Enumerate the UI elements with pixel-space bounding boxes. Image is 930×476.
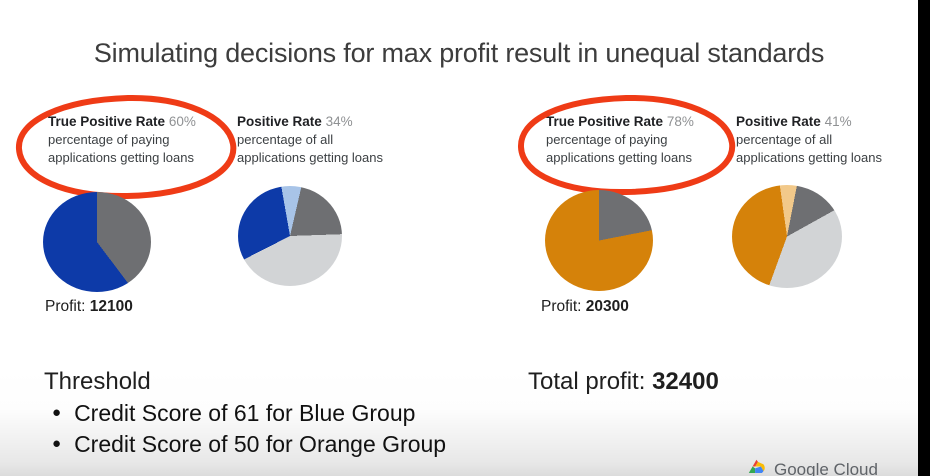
metric-label: Positive Rate	[736, 114, 821, 129]
list-item: ● Credit Score of 61 for Blue Group	[52, 400, 522, 427]
presentation-slide: Simulating decisions for max profit resu…	[0, 0, 918, 476]
metric-description-line2: applications getting loans	[48, 149, 248, 167]
total-profit: Total profit: 32400	[528, 368, 719, 396]
metric-label: True Positive Rate	[48, 114, 165, 129]
page-title: Simulating decisions for max profit resu…	[0, 38, 918, 69]
metric-description-line1: percentage of all	[736, 131, 918, 149]
metric-description-line2: applications getting loans	[546, 149, 746, 167]
metric-true-positive-rate-blue: True Positive Rate 60% percentage of pay…	[48, 113, 248, 166]
profit-label: Profit:	[45, 298, 85, 315]
google-cloud-branding: Google Cloud	[745, 458, 878, 476]
google-cloud-logo-icon	[745, 458, 767, 476]
metric-description-line1: percentage of paying	[48, 131, 248, 149]
threshold-heading: Threshold	[44, 368, 151, 396]
metric-heading: Positive Rate 34%	[237, 113, 437, 131]
metric-description-line1: percentage of all	[237, 131, 437, 149]
total-profit-value: 32400	[652, 368, 719, 395]
metric-true-positive-rate-orange: True Positive Rate 78% percentage of pay…	[546, 113, 746, 166]
letterbox-bar-right	[918, 0, 930, 476]
bullet-marker-icon: ●	[52, 405, 61, 420]
profit-label: Profit:	[541, 298, 581, 315]
metric-label: True Positive Rate	[546, 114, 663, 129]
list-item-label: Credit Score of 50 for Orange Group	[74, 431, 446, 458]
total-profit-label: Total profit:	[528, 368, 645, 395]
metric-positive-rate-orange: Positive Rate 41% percentage of all appl…	[736, 113, 918, 166]
metric-heading: True Positive Rate 78%	[546, 113, 746, 131]
list-item: ● Credit Score of 50 for Orange Group	[52, 431, 522, 458]
blue-true-positive-rate-pie	[43, 192, 151, 292]
metric-description-line2: applications getting loans	[736, 149, 918, 167]
list-item-label: Credit Score of 61 for Blue Group	[74, 400, 415, 427]
metric-value: 60%	[169, 114, 196, 129]
orange-true-positive-rate-pie	[545, 190, 653, 291]
blue-positive-rate-pie	[238, 186, 342, 286]
metric-label: Positive Rate	[237, 114, 322, 129]
metric-value: 41%	[825, 114, 852, 129]
metric-heading: Positive Rate 41%	[736, 113, 918, 131]
metric-positive-rate-blue: Positive Rate 34% percentage of all appl…	[237, 113, 437, 166]
metric-heading: True Positive Rate 60%	[48, 113, 248, 131]
profit-value: 12100	[90, 298, 133, 315]
google-cloud-label: Google Cloud	[774, 460, 878, 476]
metric-description-line2: applications getting loans	[237, 149, 437, 167]
metric-value: 34%	[326, 114, 353, 129]
bullet-marker-icon: ●	[52, 436, 61, 451]
metric-value: 78%	[667, 114, 694, 129]
profit-orange-group: Profit: 20300	[541, 298, 629, 316]
profit-blue-group: Profit: 12100	[45, 298, 133, 316]
threshold-bullet-list: ● Credit Score of 61 for Blue Group ● Cr…	[52, 400, 522, 462]
metric-description-line1: percentage of paying	[546, 131, 746, 149]
profit-value: 20300	[586, 298, 629, 315]
orange-positive-rate-pie	[732, 185, 842, 288]
